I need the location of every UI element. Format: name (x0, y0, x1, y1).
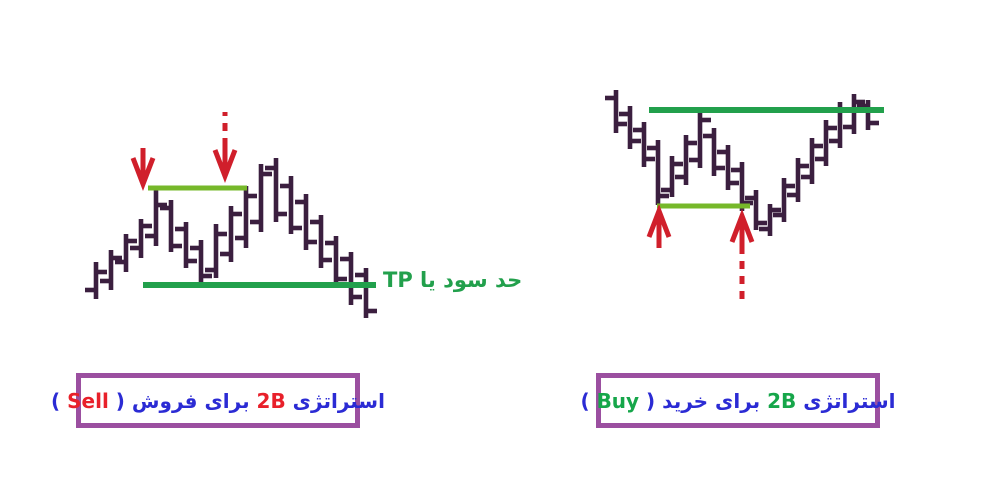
arrow-first-bottom (649, 211, 669, 248)
ohlc-bar (689, 110, 711, 168)
ohlc-bar (773, 178, 795, 222)
ohlc-bar (633, 122, 655, 167)
ohlc-bar (280, 176, 302, 234)
ohlc-bar (130, 219, 152, 258)
caption-segment: ) (51, 389, 67, 413)
arrow-second-peak (215, 112, 235, 176)
ohlc-bar (145, 188, 167, 246)
arrow-first-peak (133, 148, 153, 184)
chart-buy-ohlc (500, 0, 1000, 360)
caption-buy-text: استراتژی 2B برای خرید ( Buy ) (580, 389, 895, 413)
caption-segment: استراتژی (286, 389, 385, 413)
caption-segment: Buy (597, 389, 640, 413)
ohlc-bar (605, 90, 627, 133)
chart-sell-ohlc (0, 0, 500, 360)
caption-segment: برای فروش ( (109, 389, 257, 413)
ohlc-bar (205, 224, 227, 278)
diagram-canvas: حد سود یا TP حد سود یا TP استراتژی 2B بر… (0, 0, 1000, 500)
ohlc-bar (115, 234, 137, 272)
ohlc-bar (265, 158, 287, 222)
ohlc-bar (647, 140, 669, 205)
caption-segment: استراتژی (796, 389, 895, 413)
panel-buy-setup: حد سود یا TP (500, 0, 1000, 360)
panel-sell-setup: حد سود یا TP (0, 0, 500, 360)
ohlc-bar (745, 190, 767, 230)
arrow-second-bottom (732, 216, 752, 305)
caption-segment: برای خرید ( (639, 389, 767, 413)
caption-segment: Sell (67, 389, 109, 413)
ohlc-bars-group (85, 158, 377, 318)
caption-box-buy: استراتژی 2B برای خرید ( Buy ) (596, 373, 880, 428)
ohlc-bar (160, 200, 182, 252)
ohlc-bar (355, 268, 377, 318)
ohlc-bar (843, 94, 865, 134)
caption-box-sell: استراتژی 2B برای فروش ( Sell ) (76, 373, 360, 428)
caption-segment: ) (580, 389, 596, 413)
ohlc-bar (235, 186, 257, 248)
caption-sell-text: استراتژی 2B برای فروش ( Sell ) (51, 389, 385, 413)
ohlc-bar (619, 106, 641, 149)
caption-segment: 2B (257, 389, 286, 413)
ohlc-bar (787, 158, 809, 202)
ohlc-bar (759, 204, 781, 236)
caption-segment: 2B (767, 389, 796, 413)
ohlc-bar (857, 100, 879, 130)
